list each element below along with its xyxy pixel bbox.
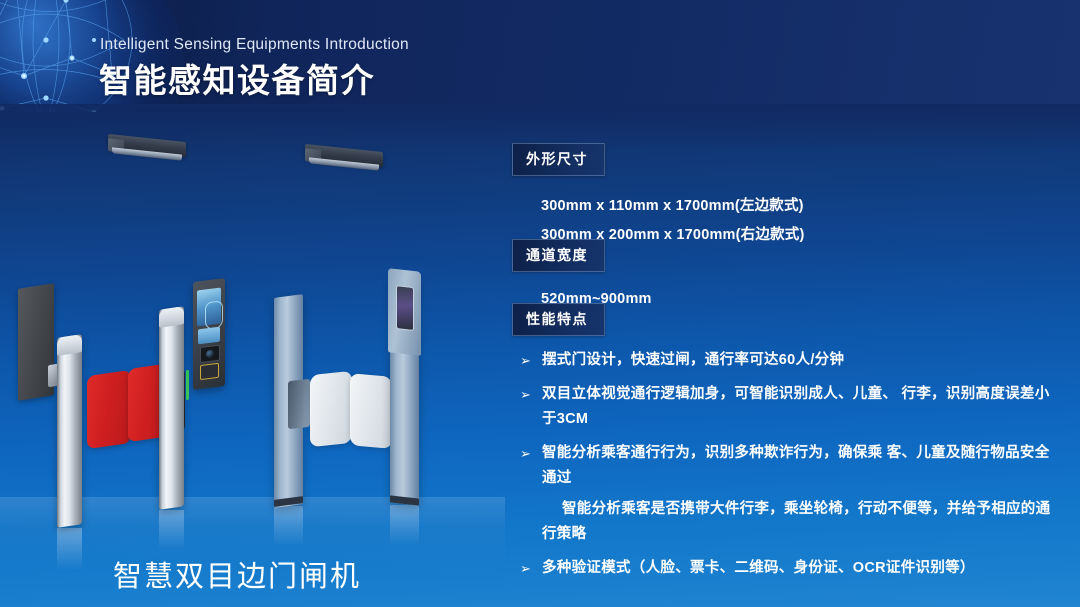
- bullet-arrow-icon: ➢: [520, 556, 531, 581]
- swing-door-white: [310, 371, 352, 447]
- list-item-text: 智能分析乘客通行行为，识别多种欺诈行为，确保乘 客、儿童及随行物品安全通过: [542, 445, 1050, 486]
- list-item: ➢ 摆式门设计，快速过闸，通行率可达60人/分钟: [512, 348, 1064, 373]
- silver-swing-gate-icon: [0, 278, 250, 546]
- channel-width-badge: 通道宽度: [512, 239, 605, 272]
- page-title: 智能感知设备简介: [99, 54, 375, 102]
- list-item: ➢ 双目立体视觉通行逻辑加身，可智能识别成人、儿童、 行李，识别高度误差小于3C…: [512, 382, 1064, 432]
- swing-door-red: [87, 370, 131, 449]
- blue-swing-gate-icon: [262, 258, 442, 548]
- overhead-stereo-sensor-icon: [108, 138, 186, 158]
- dimension-line: 300mm x 110mm x 1700mm(左边款式): [541, 194, 805, 215]
- list-item-text: 双目立体视觉通行逻辑加身，可智能识别成人、儿童、 行李，识别高度误差小于3CM: [542, 386, 1050, 427]
- performance-badge: 性能特点: [512, 303, 605, 336]
- status-led: [186, 370, 189, 400]
- bullet-arrow-icon: ➢: [520, 348, 531, 373]
- gate-pillar: [57, 334, 82, 528]
- dimensions-block: 外形尺寸 300mm x 110mm x 1700mm(左边款式) 300mm …: [512, 143, 805, 244]
- list-item-text: 摆式门设计，快速过闸，通行率可达60人/分钟: [542, 352, 844, 368]
- feature-list: ➢ 摆式门设计，快速过闸，通行率可达60人/分钟 ➢ 双目立体视觉通行逻辑加身，…: [512, 348, 1064, 590]
- gate-pillar: [159, 306, 184, 510]
- performance-block: 性能特点: [512, 303, 605, 336]
- list-item-subtext: 智能分析乘客是否携带大件行李，乘坐轮椅，行动不便等，并给予相应的通行策略: [542, 497, 1064, 547]
- dimensions-badge: 外形尺寸: [512, 143, 605, 176]
- slide-root: Intelligent Sensing Equipments Introduct…: [0, 0, 1080, 607]
- list-item: ➢ 智能分析乘客通行行为，识别多种欺诈行为，确保乘 客、儿童及随行物品安全通过 …: [512, 441, 1064, 547]
- overhead-stereo-sensor-icon: [305, 148, 383, 168]
- bullet-arrow-icon: ➢: [520, 382, 531, 407]
- swing-door-white: [350, 373, 392, 449]
- list-item-text: 多种验证模式（人脸、票卡、二维码、身份证、OCR证件识别等）: [542, 560, 975, 576]
- door-recess: [288, 379, 310, 429]
- face-recognition-terminal-icon: [193, 278, 225, 390]
- sensor-head: [388, 268, 421, 356]
- product-caption: 智慧双目边门闸机: [113, 553, 361, 595]
- header-eyebrow: Intelligent Sensing Equipments Introduct…: [100, 36, 409, 54]
- list-item: ➢ 多种验证模式（人脸、票卡、二维码、身份证、OCR证件识别等）: [512, 556, 1064, 581]
- bullet-arrow-icon: ➢: [520, 441, 531, 466]
- channel-width-block: 通道宽度 520mm~900mm: [512, 239, 652, 307]
